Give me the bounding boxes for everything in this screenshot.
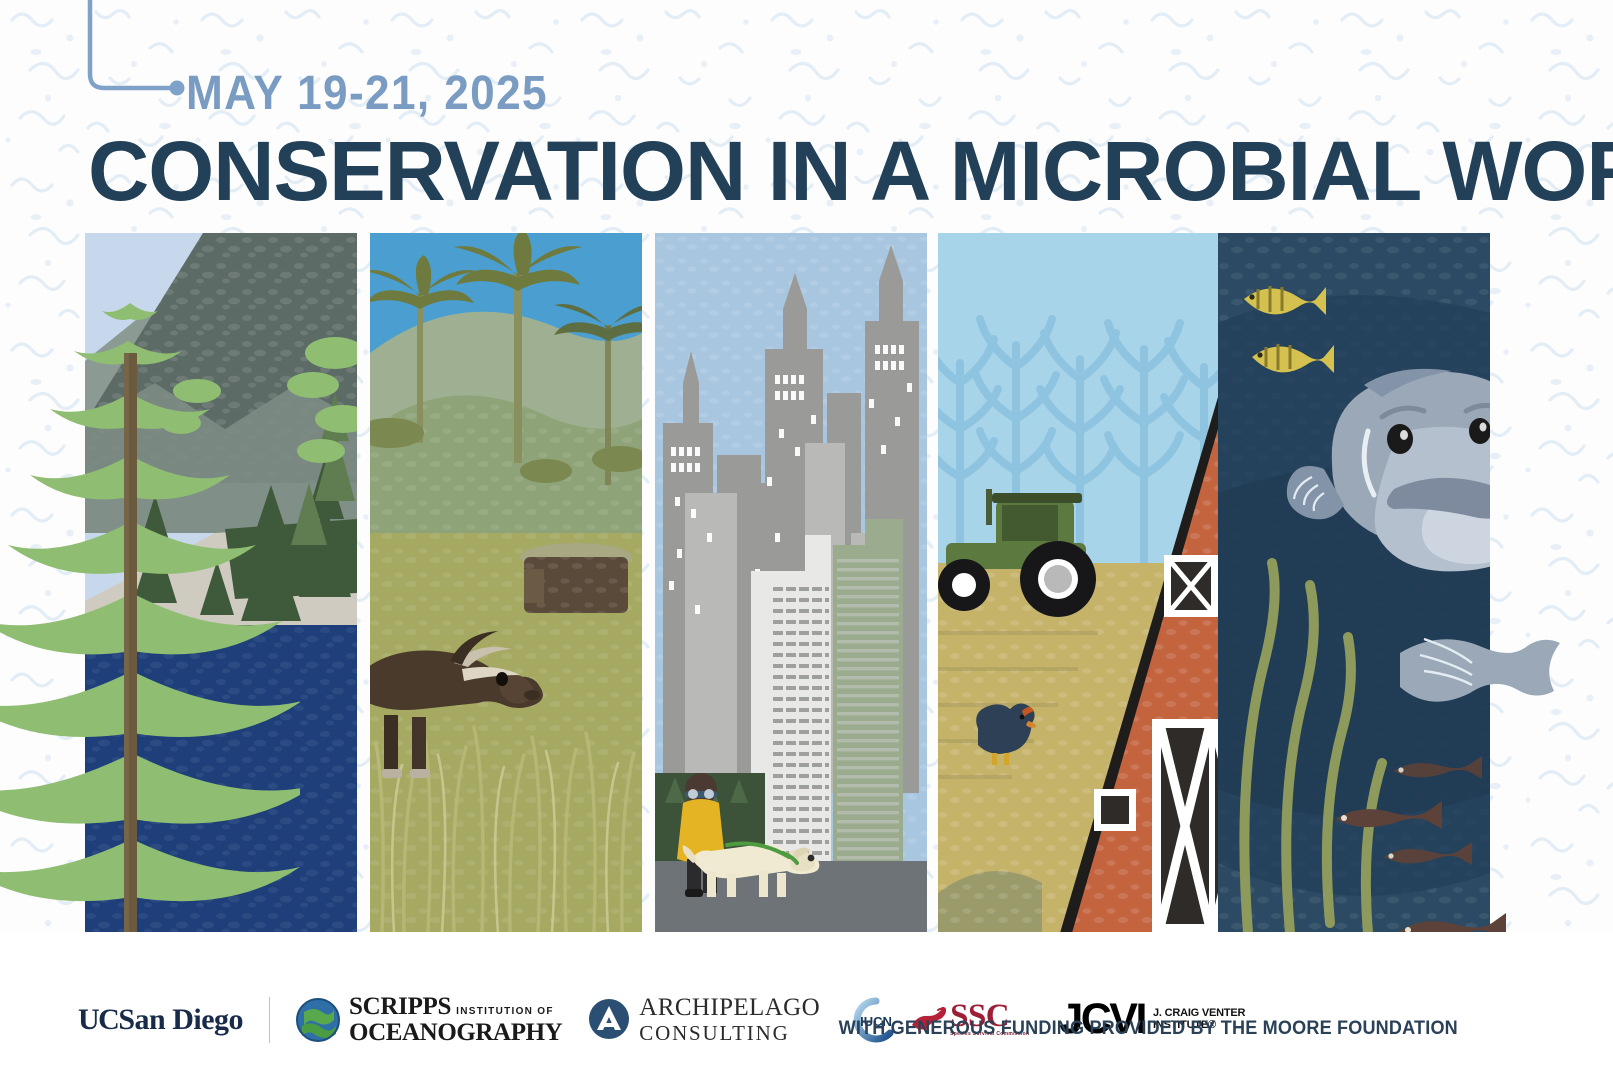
scripps-oceanography: OCEANOGRAPHY — [349, 1020, 562, 1046]
conference-poster: MAY 19-21, 2025 CONSERVATION IN A MICROB… — [0, 0, 1613, 1080]
connector-line-top-left — [82, 0, 192, 106]
ucsd-sandiego-text: San Diego — [118, 1003, 243, 1037]
poster-footer: UCSan Diego SCRIPPS INSTITUTION OF OCEAN… — [0, 932, 1613, 1080]
panel-ocean — [1218, 233, 1490, 933]
logo-archipelago-consulting: ARCHIPELAGO CONSULTING — [588, 995, 820, 1043]
page-title: CONSERVATION IN A MICROBIAL WORLD — [88, 128, 1522, 214]
illustration-panel-strip — [0, 233, 1613, 933]
panel-savanna — [370, 233, 642, 933]
event-date: MAY 19-21, 2025 — [186, 66, 548, 121]
archipelago-name: ARCHIPELAGO — [639, 995, 820, 1021]
panel-forest — [85, 233, 357, 933]
logo-scripps-oceanography: SCRIPPS INSTITUTION OF OCEANOGRAPHY — [296, 994, 562, 1045]
archipelago-mark-icon — [588, 998, 630, 1040]
ucsd-uc-text: UC — [78, 1003, 118, 1037]
scripps-institution-of: INSTITUTION OF — [456, 1007, 554, 1017]
logo-uc-san-diego: UCSan Diego — [78, 1003, 243, 1037]
logo-divider — [269, 997, 270, 1043]
panel-farm — [938, 233, 1218, 933]
globe-icon — [296, 998, 340, 1042]
scripps-name: SCRIPPS — [349, 994, 451, 1020]
panel-urban — [655, 233, 927, 933]
funding-note: WITH GENEROUS FUNDING PROVIDED BY THE MO… — [839, 1018, 1458, 1040]
archipelago-consulting-text: CONSULTING — [639, 1022, 820, 1044]
